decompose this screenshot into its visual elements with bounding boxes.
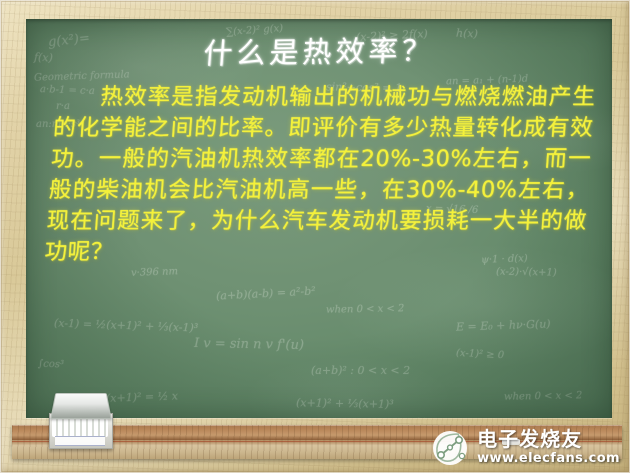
chalk-box xyxy=(49,391,111,449)
chalk-formula: when 0 < x < 2 xyxy=(504,390,583,402)
slide-content: 什么是热效率？ 热效率是指发动机输出的机械功与燃烧燃油产生的化学能之间的比率。即… xyxy=(26,19,612,268)
chalk-sticks xyxy=(52,419,108,437)
chalk-formula: (x-1) = ½(x+1)² + ⅓(x-1)³ xyxy=(54,316,199,334)
chalkboard-surface: g(x²)=f(x)Geometric formulaa·b-1 = c·ar·… xyxy=(26,19,612,418)
chalk-box-label xyxy=(55,436,105,446)
chalk-formula: (x+1)² + ⅓(x+1)³ xyxy=(296,396,394,411)
chalk-formula: when 0 < x < 2 xyxy=(326,303,405,315)
chalk-formula: (x-2)·√(x+1) xyxy=(496,266,557,278)
chalk-formula: I v = sin n v f'(u) xyxy=(194,336,304,353)
chalk-stick xyxy=(502,439,520,445)
chalk-formula: v·396 nm xyxy=(131,266,178,279)
chalk-formula: (x-1)² ≥ 0 xyxy=(456,348,505,362)
chalk-formula: E = E₀ + hν·G(u) xyxy=(456,317,551,333)
chalk-formula: (a+b)(a-b) = a²-b² xyxy=(216,284,316,302)
chalk-box-lid xyxy=(50,393,111,419)
chalk-formula: Q·s = √(mn/k) xyxy=(356,417,427,418)
body-paragraph: 热效率是指发动机输出的机械功与燃烧燃油产生的化学能之间的比率。即评价有多少热量转… xyxy=(43,82,596,268)
slide-canvas: g(x²)=f(x)Geometric formulaa·b-1 = c·ar·… xyxy=(0,0,630,473)
chalk-formula: (a+b)² : 0 < x < 2 xyxy=(311,364,410,377)
page-title: 什么是热效率？ xyxy=(43,33,596,73)
chalk-formula: ∫cos³ xyxy=(38,359,64,371)
